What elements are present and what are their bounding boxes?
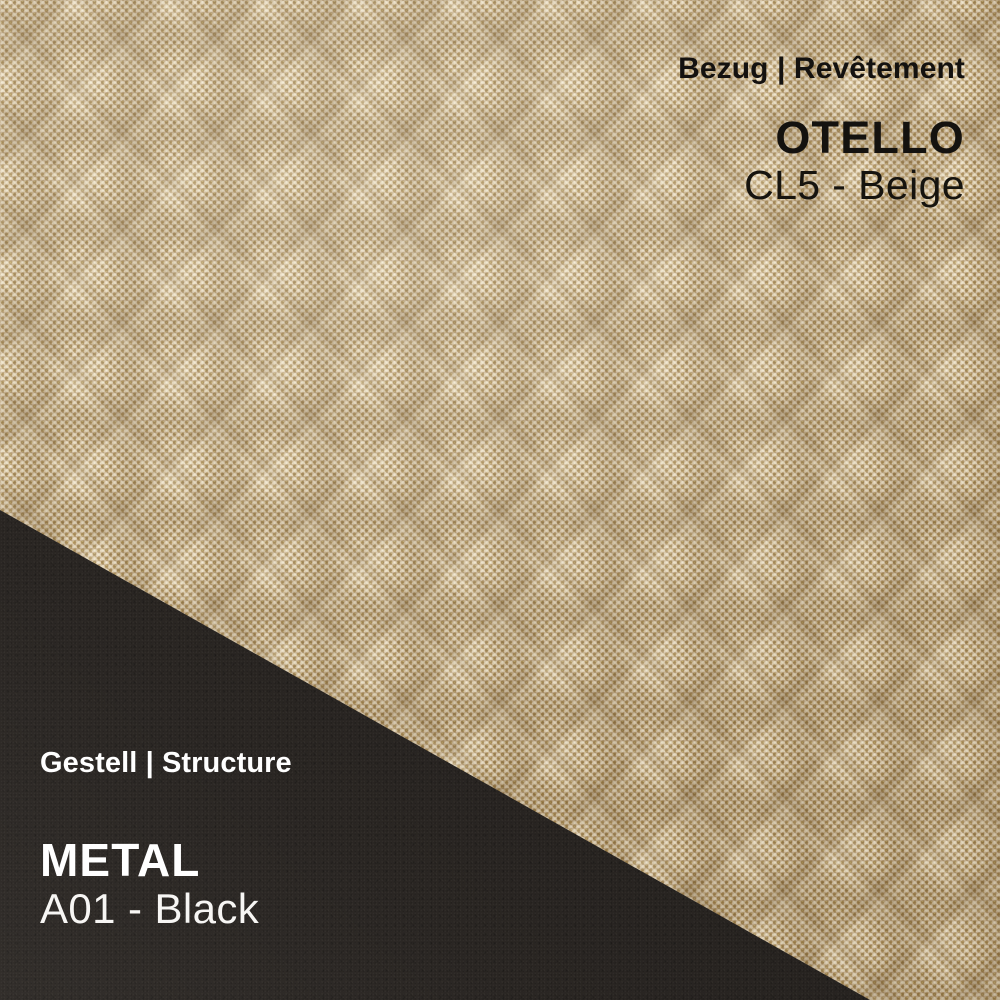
material-swatch-card: Bezug | Revêtement OTELLO CL5 - Beige Ge… — [0, 0, 1000, 1000]
upholstery-color-code: CL5 - Beige — [678, 163, 965, 208]
upholstery-material-name: OTELLO — [678, 114, 965, 161]
frame-label-group: Gestell | Structure METAL A01 - Black — [40, 747, 292, 932]
frame-color-code: A01 - Black — [40, 886, 292, 932]
upholstery-label-group: Bezug | Revêtement OTELLO CL5 - Beige — [678, 52, 965, 208]
frame-material-name: METAL — [40, 837, 292, 883]
upholstery-category-label: Bezug | Revêtement — [678, 52, 965, 86]
frame-category-label: Gestell | Structure — [40, 747, 292, 780]
